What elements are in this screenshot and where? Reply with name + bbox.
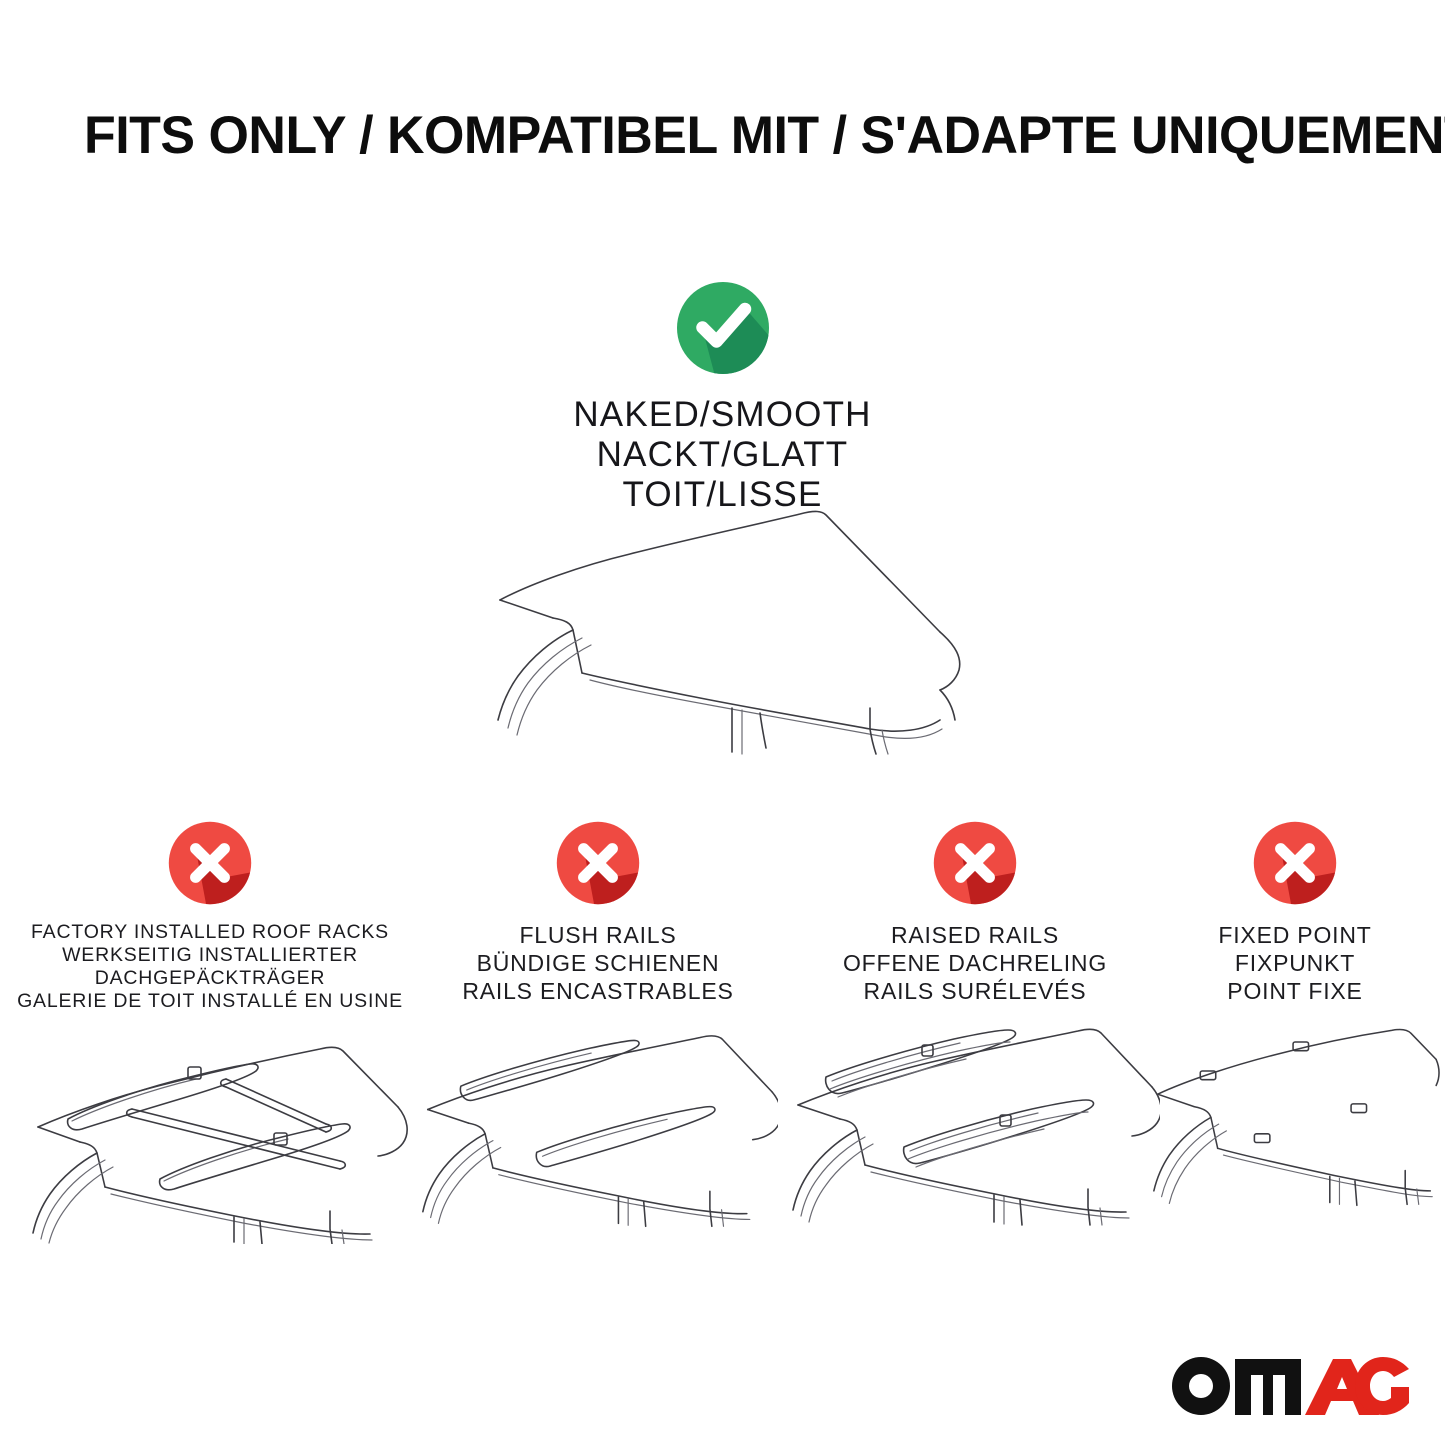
incompatible-label-line-3: POINT FIXE bbox=[1150, 977, 1440, 1005]
incompatible-label-line-3: DACHGEPÄCKTRÄGER bbox=[10, 967, 410, 990]
incompatible-label-line-1: FIXED POINT bbox=[1150, 921, 1440, 949]
compatible-label-en: NAKED/SMOOTH bbox=[0, 395, 1445, 435]
incompatible-label-line-2: BÜNDIGE SCHIENEN bbox=[418, 949, 778, 977]
incompatible-label-line-2: FIXPUNKT bbox=[1150, 949, 1440, 977]
flush-rails-illustration bbox=[418, 1021, 778, 1236]
incompatible-item-fixed-point: FIXED POINT FIXPUNKT POINT FIXE bbox=[1150, 820, 1440, 1236]
incompatible-labels: RAISED RAILS OFFENE DACHRELING RAILS SUR… bbox=[790, 921, 1160, 1005]
omac-logo bbox=[1169, 1353, 1409, 1415]
page-title: FITS ONLY / KOMPATIBEL MIT / S'ADAPTE UN… bbox=[84, 106, 1348, 166]
incompatible-item-raised-rails: RAISED RAILS OFFENE DACHRELING RAILS SUR… bbox=[790, 820, 1160, 1236]
cross-circle-icon bbox=[932, 820, 1018, 906]
raised-rails-illustration bbox=[790, 1021, 1160, 1236]
incompatible-item-flush-rails: FLUSH RAILS BÜNDIGE SCHIENEN RAILS ENCAS… bbox=[418, 820, 778, 1236]
incompatible-label-line-3: RAILS SURÉLEVÉS bbox=[790, 977, 1160, 1005]
incompatible-label-line-4: GALERIE DE TOIT INSTALLÉ EN USINE bbox=[10, 990, 410, 1013]
cross-circle-icon bbox=[555, 820, 641, 906]
fixed-point-illustration bbox=[1150, 1021, 1440, 1236]
incompatible-label-line-1: FLUSH RAILS bbox=[418, 921, 778, 949]
incompatible-label-line-1: FACTORY INSTALLED ROOF RACKS bbox=[10, 921, 410, 944]
incompatible-labels: FACTORY INSTALLED ROOF RACKS WERKSEITIG … bbox=[10, 921, 410, 1013]
cross-circle-icon bbox=[1252, 820, 1338, 906]
incompatible-section: FACTORY INSTALLED ROOF RACKS WERKSEITIG … bbox=[0, 820, 1445, 1440]
incompatible-item-factory-roof-racks: FACTORY INSTALLED ROOF RACKS WERKSEITIG … bbox=[10, 820, 410, 1244]
check-circle-icon bbox=[675, 280, 771, 376]
incompatible-labels: FLUSH RAILS BÜNDIGE SCHIENEN RAILS ENCAS… bbox=[418, 921, 778, 1005]
incompatible-label-line-2: OFFENE DACHRELING bbox=[790, 949, 1160, 977]
factory-roof-rack-illustration bbox=[10, 1029, 410, 1244]
incompatible-labels: FIXED POINT FIXPUNKT POINT FIXE bbox=[1150, 921, 1440, 1005]
compatible-label-de: NACKT/GLATT bbox=[0, 435, 1445, 475]
incompatible-label-line-2: WERKSEITIG INSTALLIERTER bbox=[10, 944, 410, 967]
cross-circle-icon bbox=[167, 820, 253, 906]
incompatible-label-line-1: RAISED RAILS bbox=[790, 921, 1160, 949]
incompatible-label-line-3: RAILS ENCASTRABLES bbox=[418, 977, 778, 1005]
naked-smooth-roof-illustration bbox=[470, 480, 990, 755]
